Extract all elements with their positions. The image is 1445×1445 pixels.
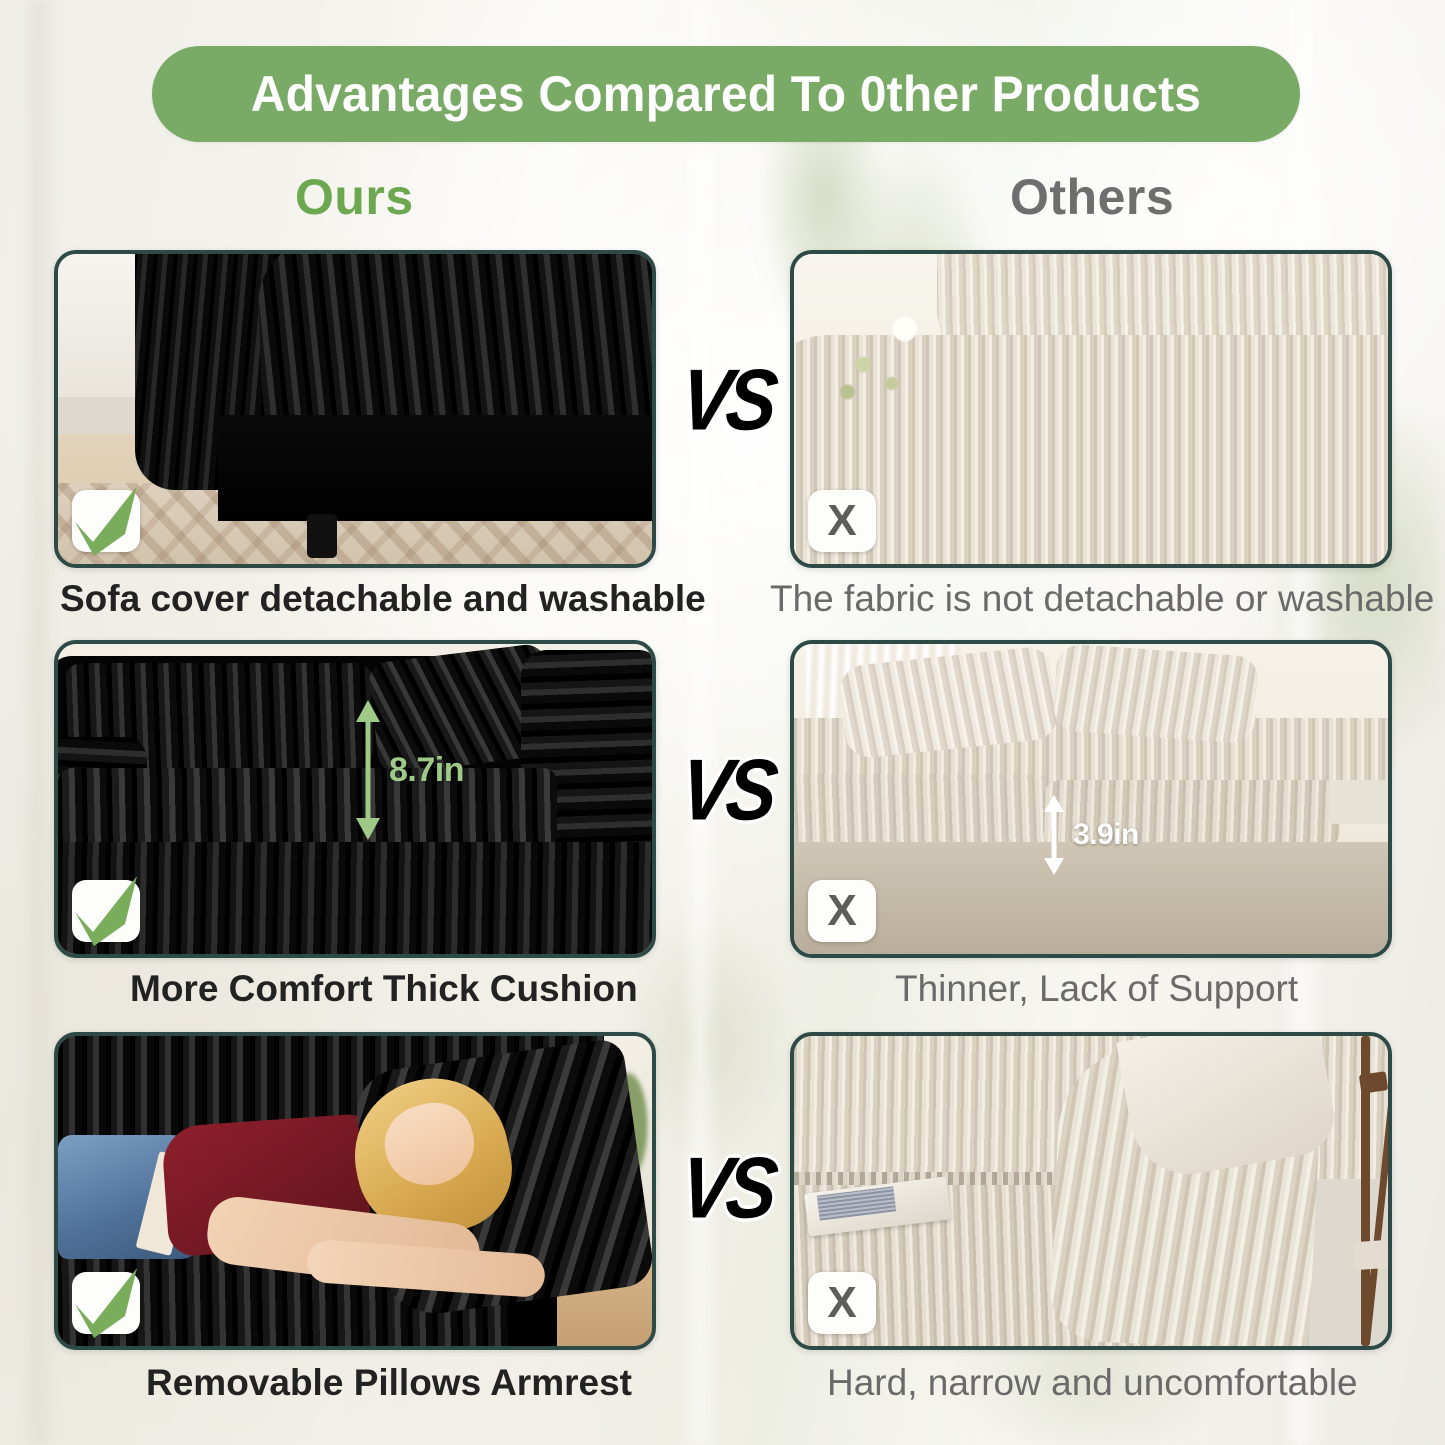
column-header-ours: Ours xyxy=(295,168,414,226)
x-icon: X xyxy=(827,499,856,543)
vs-badge-row2: VS xyxy=(652,742,802,838)
caption-others-row3: Hard, narrow and uncomfortable xyxy=(827,1362,1358,1404)
card-others-row3: X xyxy=(790,1032,1392,1350)
double-arrow-icon xyxy=(355,700,381,840)
caption-others-row1: The fabric is not detachable or washable xyxy=(770,578,1434,620)
photo-others-row1 xyxy=(794,254,1388,564)
vs-badge-row3: VS xyxy=(652,1140,802,1236)
status-badge-x: X xyxy=(808,1272,876,1334)
page-title: Advantages Compared To 0ther Products xyxy=(251,65,1201,123)
infographic-canvas: Advantages Compared To 0ther Products Ou… xyxy=(0,0,1445,1445)
vs-label: VS xyxy=(676,1138,778,1237)
card-ours-row1 xyxy=(54,250,656,568)
column-header-others: Others xyxy=(1010,168,1174,226)
x-icon: X xyxy=(827,1281,856,1325)
vs-badge-row1: VS xyxy=(652,352,802,448)
check-icon xyxy=(63,872,149,950)
vs-label: VS xyxy=(676,740,778,839)
caption-ours-row2: More Comfort Thick Cushion xyxy=(130,968,638,1010)
double-arrow-icon xyxy=(1043,795,1065,875)
check-icon xyxy=(63,482,149,560)
status-badge-check xyxy=(72,880,140,942)
measurement-callout-ours: 8.7in xyxy=(355,700,464,840)
measurement-value-others: 3.9in xyxy=(1073,818,1139,852)
measurement-value-ours: 8.7in xyxy=(389,751,464,790)
x-icon: X xyxy=(827,889,856,933)
status-badge-x: X xyxy=(808,490,876,552)
caption-ours-row1: Sofa cover detachable and washable xyxy=(60,578,706,620)
card-ours-row3 xyxy=(54,1032,656,1350)
status-badge-x: X xyxy=(808,880,876,942)
vs-label: VS xyxy=(676,350,778,449)
title-banner: Advantages Compared To 0ther Products xyxy=(152,46,1300,142)
caption-others-row2: Thinner, Lack of Support xyxy=(895,968,1298,1010)
card-others-row1: X xyxy=(790,250,1392,568)
photo-others-row3 xyxy=(794,1036,1388,1346)
status-badge-check xyxy=(72,490,140,552)
status-badge-check xyxy=(72,1272,140,1334)
measurement-callout-others: 3.9in xyxy=(1043,795,1139,875)
check-icon xyxy=(63,1264,149,1342)
caption-ours-row3: Removable Pillows Armrest xyxy=(146,1362,632,1404)
